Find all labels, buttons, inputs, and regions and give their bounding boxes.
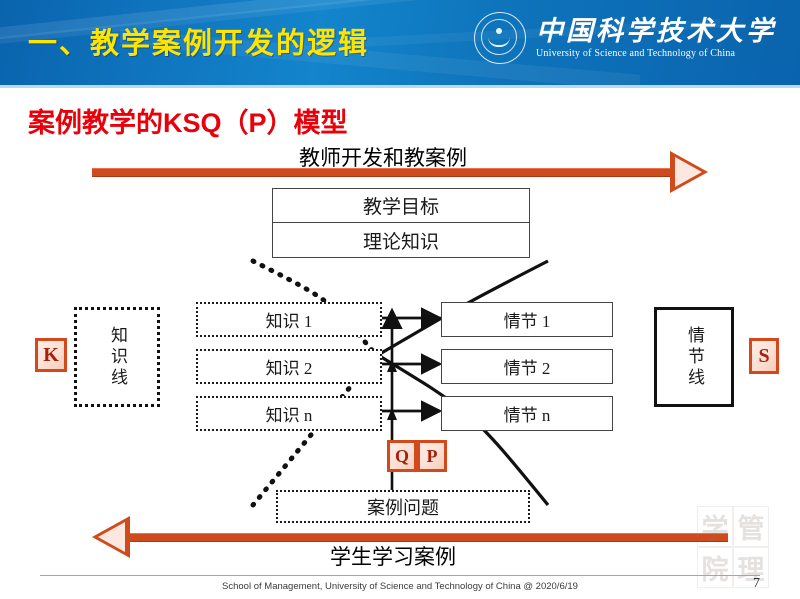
flow-arrow-right-head (670, 151, 708, 193)
box-knowledge-n: 知识 n (196, 396, 382, 431)
flow-arrow-right-shaft (92, 168, 672, 177)
axis-knowledge-line: 知识线 (74, 307, 160, 407)
ustc-name-cn: 中国科学技术大学 (536, 17, 776, 45)
header-divider (0, 85, 800, 88)
page-title: 案例教学的KSQ（P）模型 (28, 101, 348, 140)
badge-k: K (35, 338, 67, 372)
slide-header: 一、教学案例开发的逻辑 中国科学技术大学 University of Scien… (0, 0, 800, 85)
ustc-logo-text: 中国科学技术大学 University of Science and Techn… (536, 17, 776, 58)
box-plot-2: 情节 2 (441, 349, 613, 384)
seal-dot-icon (496, 28, 502, 34)
axis-plot-line-label: 情节线 (684, 326, 704, 389)
header-title: 一、教学案例开发的逻辑 (28, 20, 369, 62)
flow-arrow-left-head (92, 516, 130, 558)
caption-bottom: 学生学习案例 (330, 541, 456, 571)
box-case-problem: 案例问题 (276, 490, 530, 523)
watermark-char-1: 学 (697, 506, 733, 547)
axis-plot-line: 情节线 (654, 307, 734, 407)
ustc-name-en: University of Science and Technology of … (536, 48, 776, 59)
watermark-char-2: 管 (733, 506, 769, 547)
badge-s: S (749, 338, 779, 374)
vertical-arrowhead-low (387, 408, 397, 420)
box-knowledge-2: 知识 2 (196, 349, 382, 384)
box-plot-n: 情节 n (441, 396, 613, 431)
slide-canvas: 一、教学案例开发的逻辑 中国科学技术大学 University of Scien… (0, 0, 800, 599)
flow-arrow-left-head-fill (98, 522, 125, 552)
flow-arrow-right-head-fill (675, 157, 702, 187)
box-plot-1: 情节 1 (441, 302, 613, 337)
badge-p: P (417, 440, 447, 472)
badge-q: Q (387, 440, 417, 472)
vertical-arrowhead-top (387, 308, 397, 320)
vertical-arrowhead-mid (387, 360, 397, 372)
footer-divider (40, 575, 760, 576)
ustc-logo: 中国科学技术大学 University of Science and Techn… (474, 12, 776, 64)
page-number: 7 (753, 576, 760, 592)
box-knowledge-1: 知识 1 (196, 302, 382, 337)
footer-text: School of Management, University of Scie… (0, 581, 800, 592)
axis-knowledge-line-label: 知识线 (107, 326, 127, 389)
ustc-seal-icon (474, 12, 526, 64)
school-watermark: 学 管 院 理 (697, 506, 769, 574)
box-teaching-goal: 教学目标 (272, 188, 530, 223)
box-theory-knowledge: 理论知识 (272, 223, 530, 258)
